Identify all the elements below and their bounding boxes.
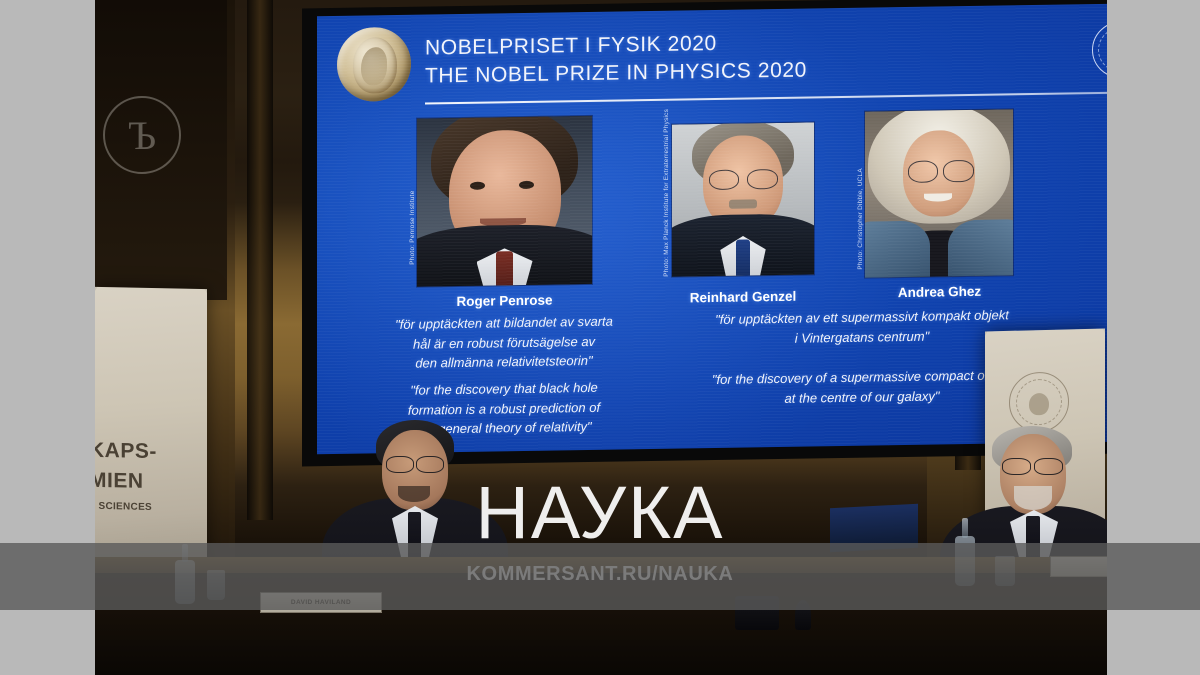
portrait-jacket-right bbox=[948, 219, 1013, 278]
speaker-right-glasses-left bbox=[1002, 458, 1031, 475]
citation-penrose-swedish: "för upptäckten att bildandet av svarta … bbox=[359, 311, 649, 374]
portrait-tie bbox=[496, 252, 514, 287]
photo-credit-penrose: Photo: Penrose Institute bbox=[409, 190, 416, 264]
portrait-roger-penrose bbox=[417, 116, 592, 287]
banner-left-line-3: F SCIENCES bbox=[95, 501, 152, 513]
slide-titles: NOBELPRISET I FYSIK 2020 THE NOBEL PRIZE… bbox=[425, 29, 807, 90]
portrait-tie bbox=[736, 239, 750, 277]
overlay-gray-band bbox=[0, 543, 1200, 610]
portrait-glasses-right bbox=[747, 169, 777, 190]
speaker-left-beard bbox=[398, 486, 430, 502]
photo-credit-ghez: Photo: Christopher Dibble, UCLA bbox=[857, 168, 864, 270]
speaker-right-beard bbox=[1014, 486, 1052, 510]
portrait-andrea-ghez bbox=[865, 109, 1013, 277]
banner-seal-head bbox=[1029, 393, 1049, 415]
portrait-glasses-right bbox=[943, 160, 973, 182]
portrait-moustache bbox=[729, 199, 757, 209]
portrait-glasses-left bbox=[709, 169, 739, 190]
laureate-name-genzel: Reinhard Genzel bbox=[653, 288, 833, 306]
speaker-right-glasses-right bbox=[1034, 458, 1063, 475]
portrait-jacket-left bbox=[865, 220, 930, 277]
speaker-left-glasses-right bbox=[416, 456, 444, 473]
laureate-name-ghez: Andrea Ghez bbox=[852, 283, 1027, 301]
nobel-medal-profile bbox=[361, 47, 387, 85]
wall-pillar-left bbox=[247, 0, 273, 520]
banner-left-line-1: KAPS- bbox=[95, 439, 157, 464]
photo-credit-genzel: Photo: Max Planck Institute for Extrater… bbox=[663, 109, 670, 277]
water-bottle-right-neck bbox=[962, 518, 968, 538]
academy-logo-block: KUNGL. VETENSKAPS- AKADEMIEN THE ROYAL S… bbox=[1092, 16, 1107, 87]
banner-left-line-2: MIEN bbox=[95, 469, 144, 494]
wall-panel-left bbox=[95, 0, 227, 300]
portrait-glasses-left bbox=[908, 160, 938, 182]
portrait-reinhard-genzel bbox=[672, 122, 814, 276]
royal-academy-seal-icon bbox=[1092, 21, 1107, 78]
speaker-left-glasses-left bbox=[386, 456, 414, 473]
screenshot-stage: NOBELPRISET I FYSIK 2020 THE NOBEL PRIZE… bbox=[0, 0, 1200, 675]
